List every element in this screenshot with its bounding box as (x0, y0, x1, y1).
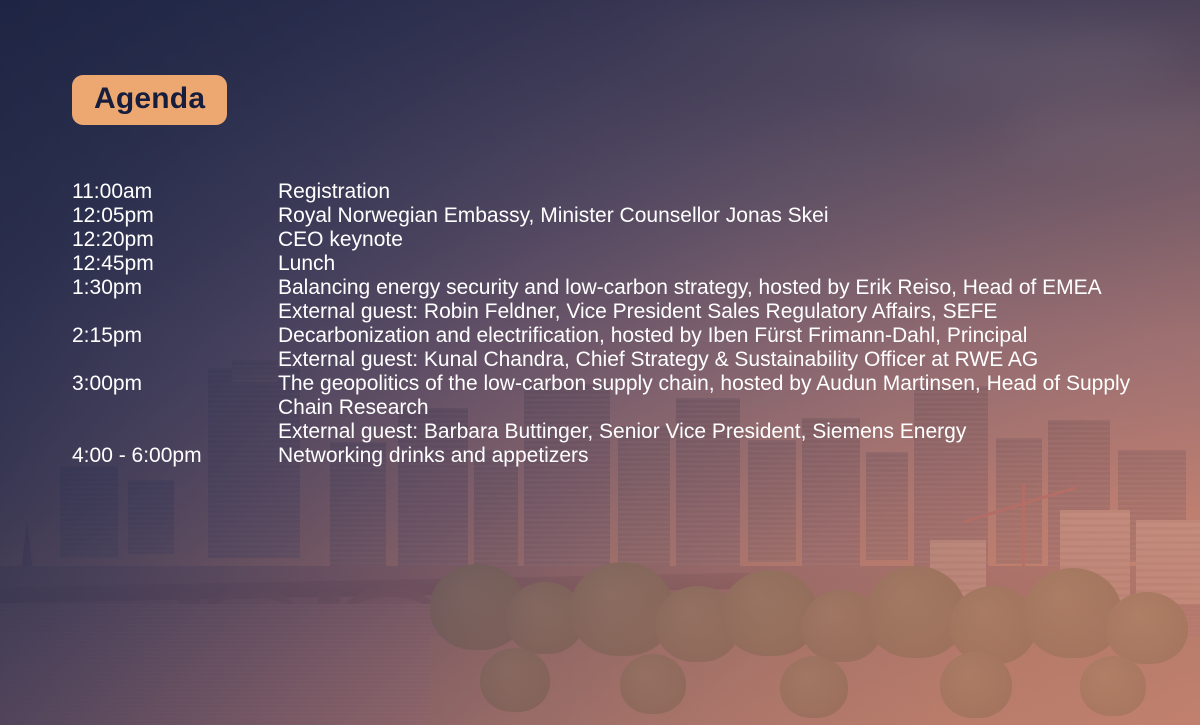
agenda-time: 2:15pm (72, 324, 278, 348)
agenda-time: 11:00am (72, 180, 278, 204)
agenda-time: 12:05pm (72, 204, 278, 228)
agenda-description: CEO keynote (278, 228, 1152, 252)
agenda-row: 12:05pmRoyal Norwegian Embassy, Minister… (72, 204, 1152, 228)
agenda-row: 4:00 - 6:00pmNetworking drinks and appet… (72, 444, 1152, 468)
agenda-session-title: Decarbonization and electrification, hos… (278, 324, 1152, 348)
agenda-description: Decarbonization and electrification, hos… (278, 324, 1152, 372)
agenda-slide: Agenda 11:00amRegistration12:05pmRoyal N… (0, 0, 1200, 725)
agenda-description: Registration (278, 180, 1152, 204)
agenda-row: 11:00amRegistration (72, 180, 1152, 204)
agenda-row: 12:45pmLunch (72, 252, 1152, 276)
agenda-session-title: Royal Norwegian Embassy, Minister Counse… (278, 204, 1152, 228)
agenda-time: 3:00pm (72, 372, 278, 396)
agenda-session-title: Networking drinks and appetizers (278, 444, 1152, 468)
agenda-list: 11:00amRegistration12:05pmRoyal Norwegia… (72, 180, 1152, 468)
slide-content: Agenda 11:00amRegistration12:05pmRoyal N… (0, 0, 1200, 725)
agenda-description: Lunch (278, 252, 1152, 276)
agenda-guest-note: External guest: Kunal Chandra, Chief Str… (278, 348, 1152, 372)
agenda-session-title: Registration (278, 180, 1152, 204)
agenda-guest-note: External guest: Barbara Buttinger, Senio… (278, 420, 1152, 444)
agenda-description: Balancing energy security and low-carbon… (278, 276, 1152, 324)
agenda-row: 2:15pmDecarbonization and electrificatio… (72, 324, 1152, 372)
agenda-row: 3:00pmThe geopolitics of the low-carbon … (72, 372, 1152, 444)
agenda-row: 1:30pmBalancing energy security and low-… (72, 276, 1152, 324)
agenda-session-title: CEO keynote (278, 228, 1152, 252)
agenda-guest-note: External guest: Robin Feldner, Vice Pres… (278, 300, 1152, 324)
agenda-session-title: The geopolitics of the low-carbon supply… (278, 372, 1152, 420)
agenda-session-title: Lunch (278, 252, 1152, 276)
agenda-description: Networking drinks and appetizers (278, 444, 1152, 468)
agenda-time: 12:20pm (72, 228, 278, 252)
agenda-badge: Agenda (72, 75, 227, 125)
agenda-description: The geopolitics of the low-carbon supply… (278, 372, 1152, 444)
agenda-row: 12:20pmCEO keynote (72, 228, 1152, 252)
agenda-session-title: Balancing energy security and low-carbon… (278, 276, 1152, 300)
agenda-time: 12:45pm (72, 252, 278, 276)
agenda-time: 4:00 - 6:00pm (72, 444, 278, 468)
agenda-time: 1:30pm (72, 276, 278, 300)
agenda-description: Royal Norwegian Embassy, Minister Counse… (278, 204, 1152, 228)
